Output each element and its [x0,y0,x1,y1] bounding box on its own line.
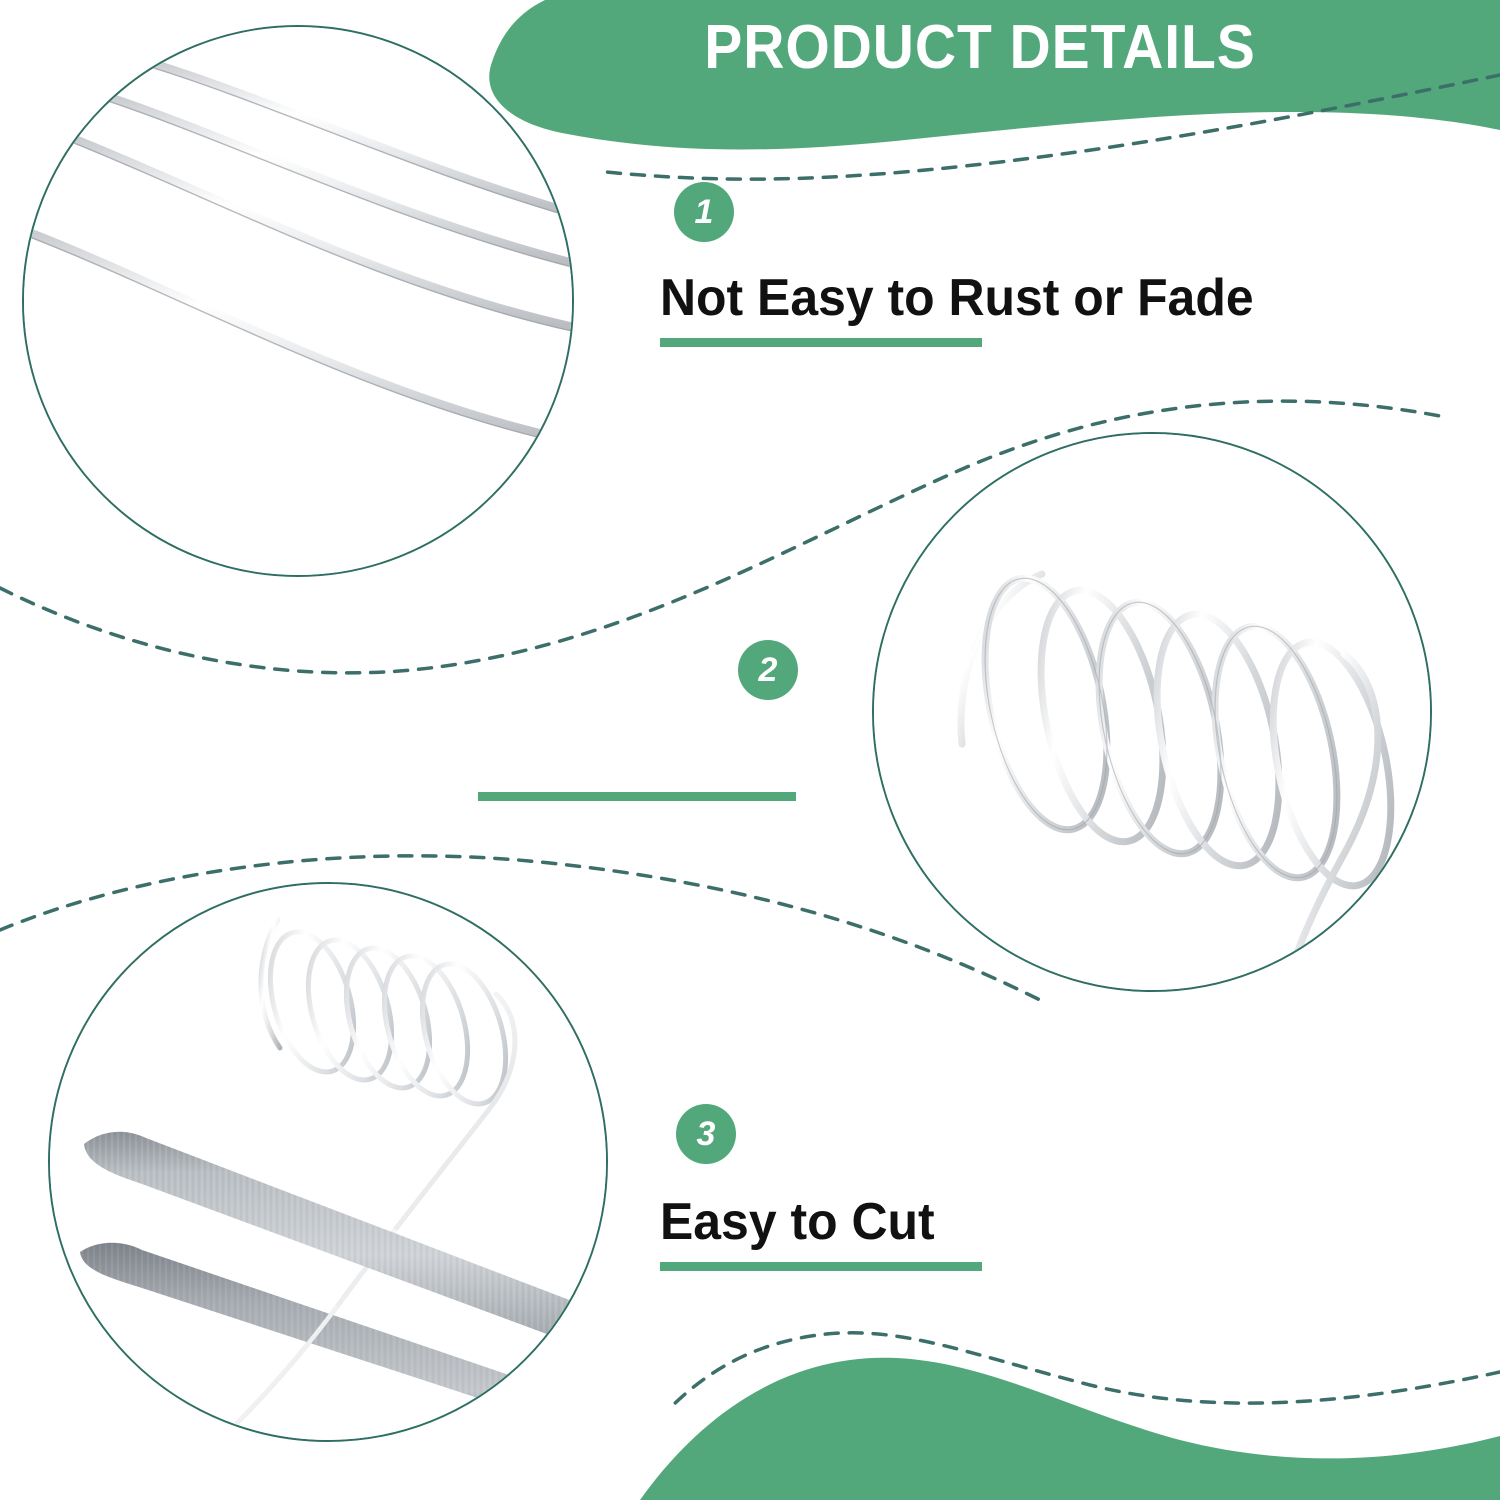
feature-rule-2 [478,792,796,801]
feature-heading-3: Easy to Cut [660,1192,935,1252]
product-photo-circle-1 [22,25,574,577]
feature-badge-3: 3 [676,1104,736,1164]
scissors-cutting-wire-illustration [50,884,606,1440]
feature-rule-1 [660,338,982,347]
feature-badge-2: 2 [738,640,798,700]
feature-heading-1: Not Easy to Rust or Fade [660,268,1254,328]
product-details-infographic: PRODUCT DETAILS [0,0,1500,1500]
product-photo-circle-3 [48,882,608,1442]
straight-wire-strands-illustration [24,27,572,575]
feature-badge-1: 1 [674,182,734,242]
coiled-wire-spiral-illustration [874,434,1430,990]
feature-rule-3 [660,1262,982,1271]
product-photo-circle-2 [872,432,1432,992]
